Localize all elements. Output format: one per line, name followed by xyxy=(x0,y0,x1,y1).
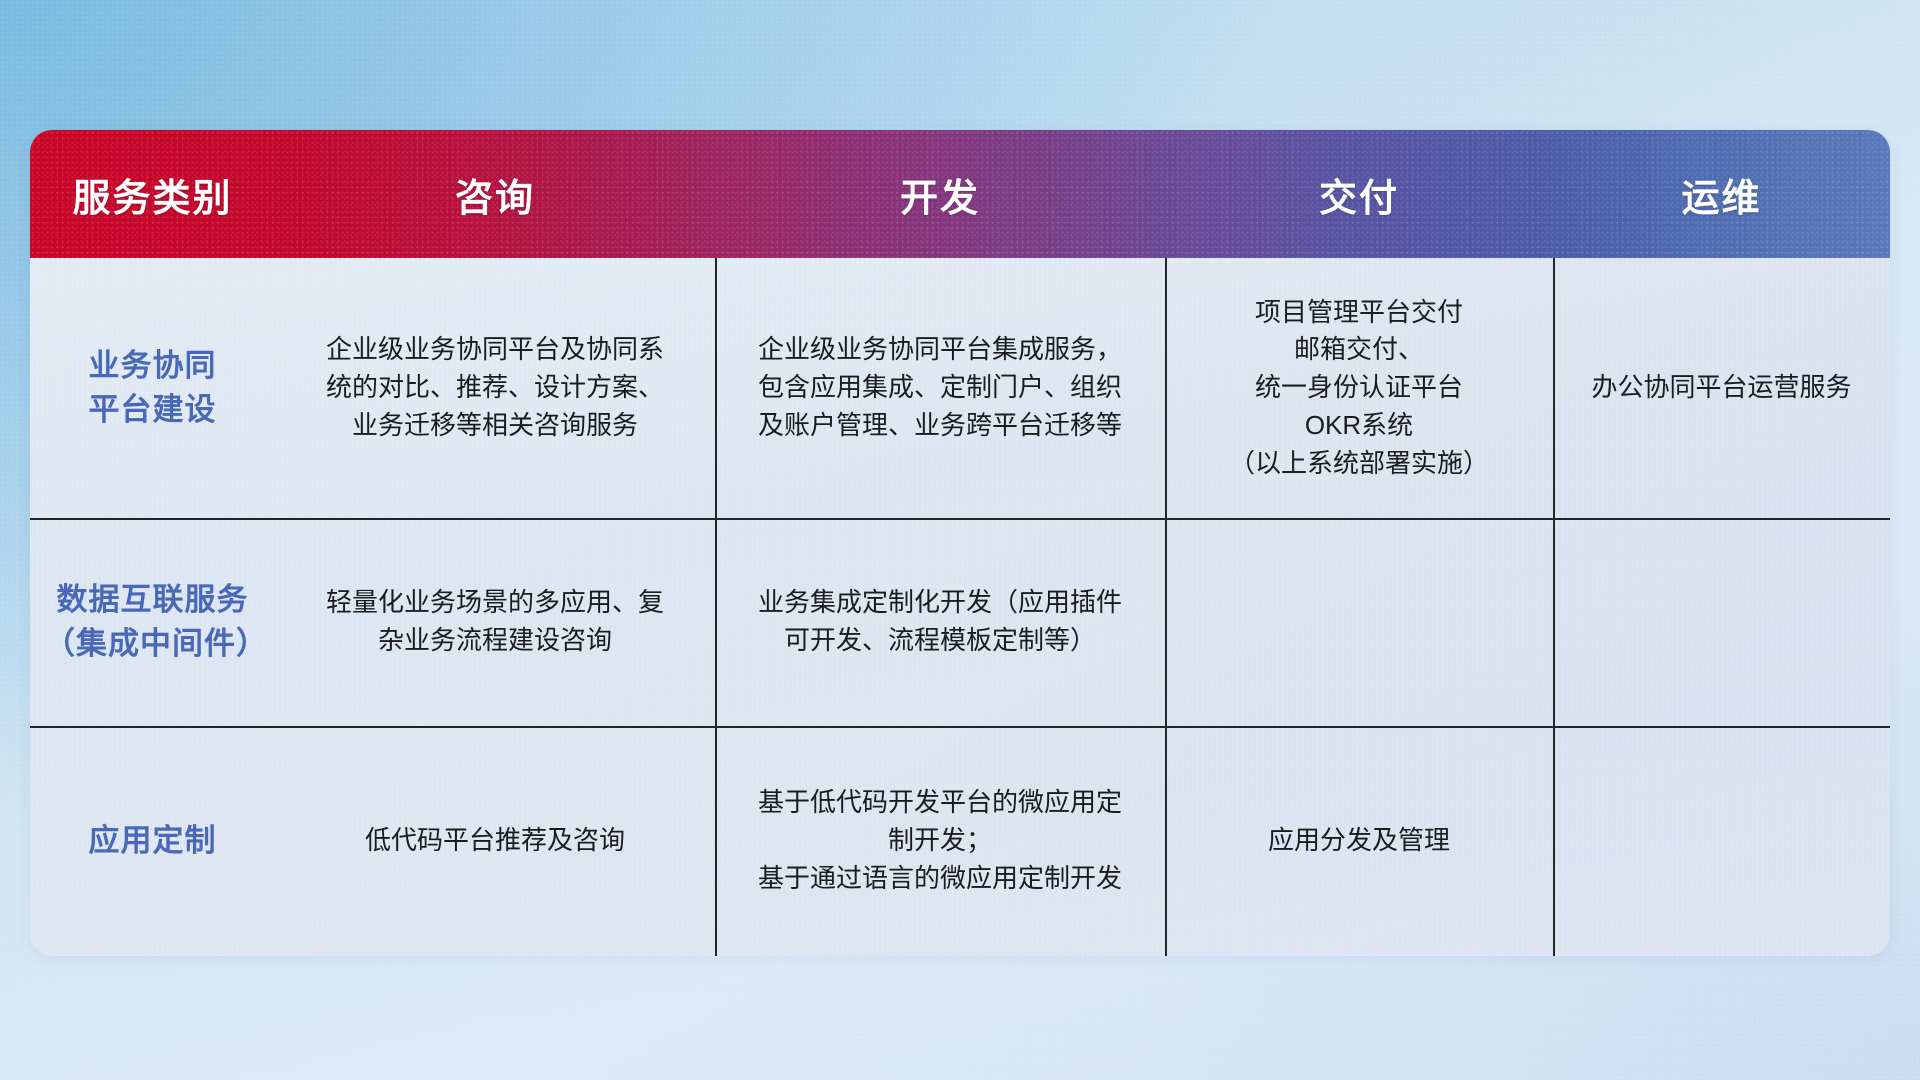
cell-consulting: 企业级业务协同平台及协同系 统的对比、推荐、设计方案、 业务迁移等相关咨询服务 xyxy=(275,331,715,444)
cell-delivery: 项目管理平台交付 邮箱交付、 统一身份认证平台 OKR系统 （以上系统部署实施） xyxy=(1165,294,1553,482)
cell-operations: 办公协同平台运营服务 xyxy=(1553,369,1890,407)
table-row: 业务协同 平台建设 企业级业务协同平台及协同系 统的对比、推荐、设计方案、 业务… xyxy=(30,258,1890,518)
slide-canvas: 服务类别 咨询 开发 交付 运维 业务协同 平台建设 企业级业务协同平台及协同系… xyxy=(0,0,1920,1080)
row-divider-2 xyxy=(30,726,1890,728)
row-divider-1 xyxy=(30,518,1890,520)
cell-category: 应用定制 xyxy=(30,819,275,863)
cell-category: 数据互联服务 （集成中间件） xyxy=(30,578,275,666)
cell-development: 企业级业务协同平台集成服务， 包含应用集成、定制门户、组织 及账户管理、业务跨平… xyxy=(715,331,1165,444)
column-header-development: 开发 xyxy=(715,167,1165,222)
cell-consulting: 低代码平台推荐及咨询 xyxy=(275,822,715,860)
cell-consulting: 轻量化业务场景的多应用、复 杂业务流程建设咨询 xyxy=(275,584,715,659)
column-divider-consulting-development xyxy=(715,258,717,956)
cell-development: 业务集成定制化开发（应用插件 可开发、流程模板定制等） xyxy=(715,584,1165,659)
cell-delivery: 应用分发及管理 xyxy=(1165,822,1553,860)
cell-development: 基于低代码开发平台的微应用定 制开发； 基于通过语言的微应用定制开发 xyxy=(715,784,1165,897)
column-header-delivery: 交付 xyxy=(1165,167,1553,222)
table-row: 数据互联服务 （集成中间件） 轻量化业务场景的多应用、复 杂业务流程建设咨询 业… xyxy=(30,518,1890,726)
cell-category: 业务协同 平台建设 xyxy=(30,344,275,432)
column-header-service-category: 服务类别 xyxy=(30,167,275,222)
column-divider-development-delivery xyxy=(1165,258,1167,956)
table-header-row: 服务类别 咨询 开发 交付 运维 xyxy=(30,130,1890,258)
table-body: 业务协同 平台建设 企业级业务协同平台及协同系 统的对比、推荐、设计方案、 业务… xyxy=(30,258,1890,956)
table-row: 应用定制 低代码平台推荐及咨询 基于低代码开发平台的微应用定 制开发； 基于通过… xyxy=(30,726,1890,956)
column-header-operations: 运维 xyxy=(1553,167,1890,222)
column-divider-delivery-operations xyxy=(1553,258,1555,956)
column-header-consulting: 咨询 xyxy=(275,167,715,222)
service-matrix-table: 服务类别 咨询 开发 交付 运维 业务协同 平台建设 企业级业务协同平台及协同系… xyxy=(30,130,1890,956)
